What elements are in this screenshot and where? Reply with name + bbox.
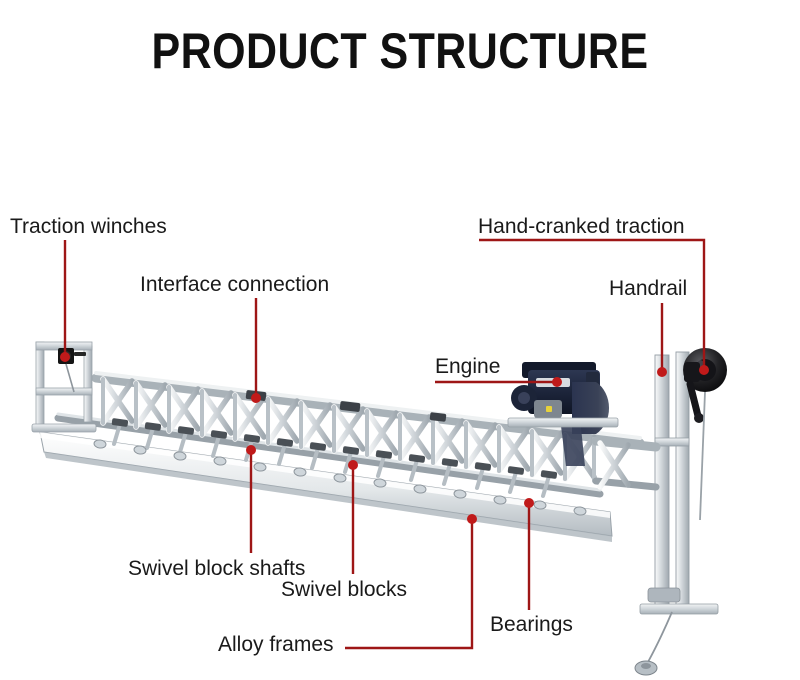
callout-label-bearings: Bearings [490, 612, 573, 637]
winch-cable [700, 392, 705, 520]
callout-label-swivel-blocks: Swivel blocks [281, 577, 407, 602]
callout-label-traction-winches: Traction winches [10, 214, 167, 239]
hanging-cable-weight [635, 612, 672, 675]
product-structure-diagram: PRODUCT STRUCTURE [0, 0, 800, 680]
traction-winch-left [58, 348, 86, 392]
callout-label-handrail: Handrail [609, 276, 687, 301]
handrail-post-rear [676, 352, 689, 610]
callout-label-interface-connection: Interface connection [140, 272, 329, 297]
callout-label-alloy-frames: Alloy frames [218, 632, 334, 657]
right-end-assembly [596, 348, 727, 675]
callout-label-engine: Engine [435, 354, 500, 379]
callout-label-hand-cranked-traction: Hand-cranked traction [478, 214, 685, 239]
callout-label-swivel-block-shafts: Swivel block shafts [128, 556, 305, 581]
hand-cranked-traction-winch [683, 348, 727, 520]
